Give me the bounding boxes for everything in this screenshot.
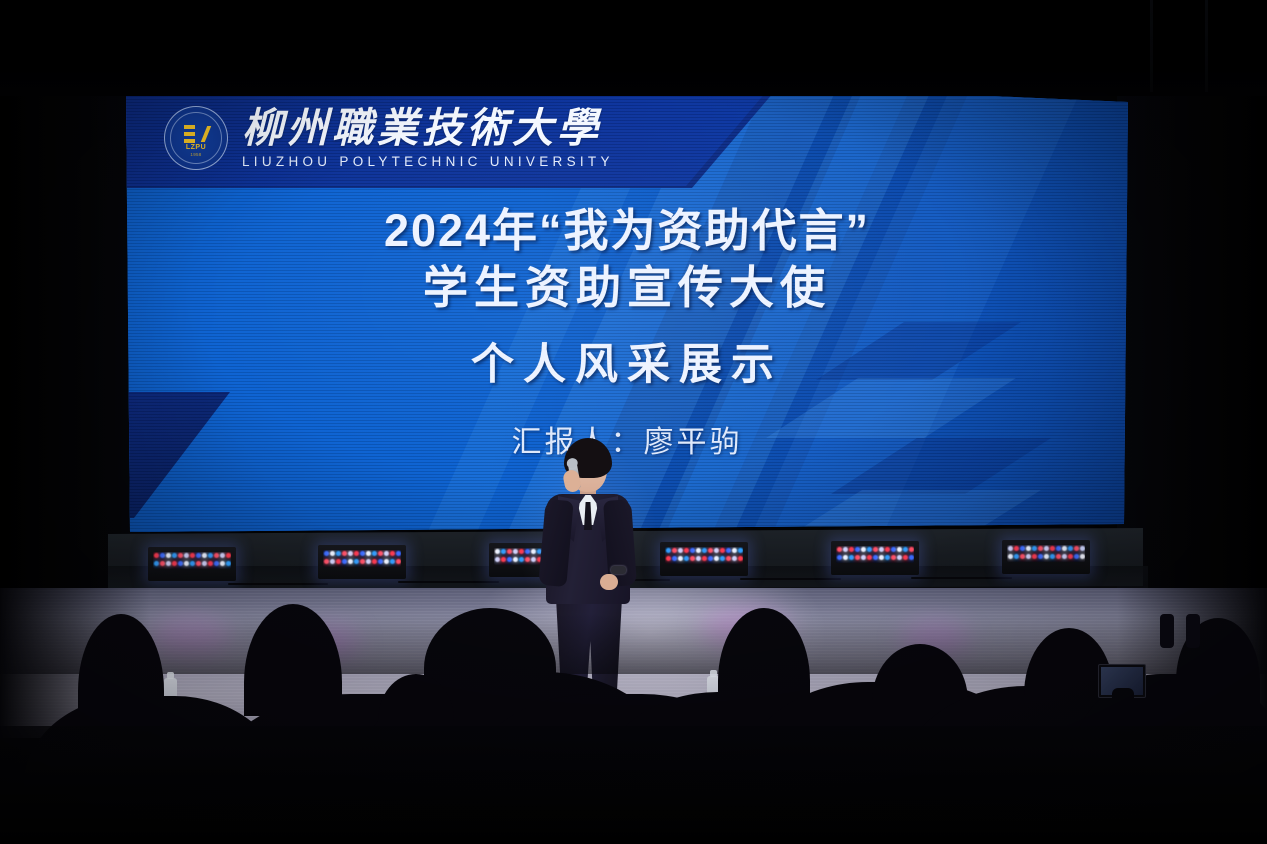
led-wash-light <box>1002 540 1090 574</box>
led-wash-light <box>148 547 236 581</box>
slide-title-line-2: 学生资助宣传大使 <box>126 261 1128 314</box>
standing-person-leg <box>1160 614 1174 648</box>
standing-person-leg <box>1186 614 1200 648</box>
seal-year: 1958 <box>165 152 227 157</box>
seal-abbreviation: LZPU <box>165 144 227 151</box>
led-wash-light <box>318 545 406 579</box>
wash-light-lens <box>1007 545 1085 562</box>
audience-darkness-base <box>0 726 1267 844</box>
stage-cable <box>740 578 841 580</box>
ceiling-rig-bar <box>1150 0 1153 92</box>
wash-light-lens <box>836 546 914 563</box>
stage-cable <box>398 581 499 583</box>
university-name-chinese: 柳州職業技術大學 <box>242 108 614 149</box>
audience-foreground: 世明 <box>0 614 1267 844</box>
university-seal-icon: LZPU 1958 <box>164 106 228 170</box>
university-branding: LZPU 1958 柳州職業技術大學 LIUZHOU POLYTECHNIC U… <box>164 106 614 170</box>
wash-light-lens <box>153 552 231 569</box>
stage-cable <box>228 583 328 585</box>
stage-cable <box>911 577 1012 579</box>
university-name-english: LIUZHOU POLYTECHNIC UNIVERSITY <box>242 154 614 169</box>
slide-title-line-3: 个人风采展示 <box>126 340 1128 391</box>
presenter-resting-hand <box>600 574 618 590</box>
hall-ceiling-darkness <box>0 0 1267 96</box>
led-wash-light <box>831 541 919 575</box>
wash-light-lens <box>323 550 401 567</box>
auditorium-stage-photo: LZPU 1958 柳州職業技術大學 LIUZHOU POLYTECHNIC U… <box>0 0 1267 844</box>
slide-text-block: 2024年“我为资助代言” 学生资助宣传大使 个人风采展示 汇报人：廖平驹 <box>126 204 1128 460</box>
university-name-block: 柳州職業技術大學 LIUZHOU POLYTECHNIC UNIVERSITY <box>242 108 614 169</box>
ceiling-rig-bar <box>1205 0 1208 92</box>
seal-emblem-icon <box>183 124 209 144</box>
slide-title-line-1: 2024年“我为资助代言” <box>126 204 1128 257</box>
presenter-wristwatch <box>611 566 626 574</box>
